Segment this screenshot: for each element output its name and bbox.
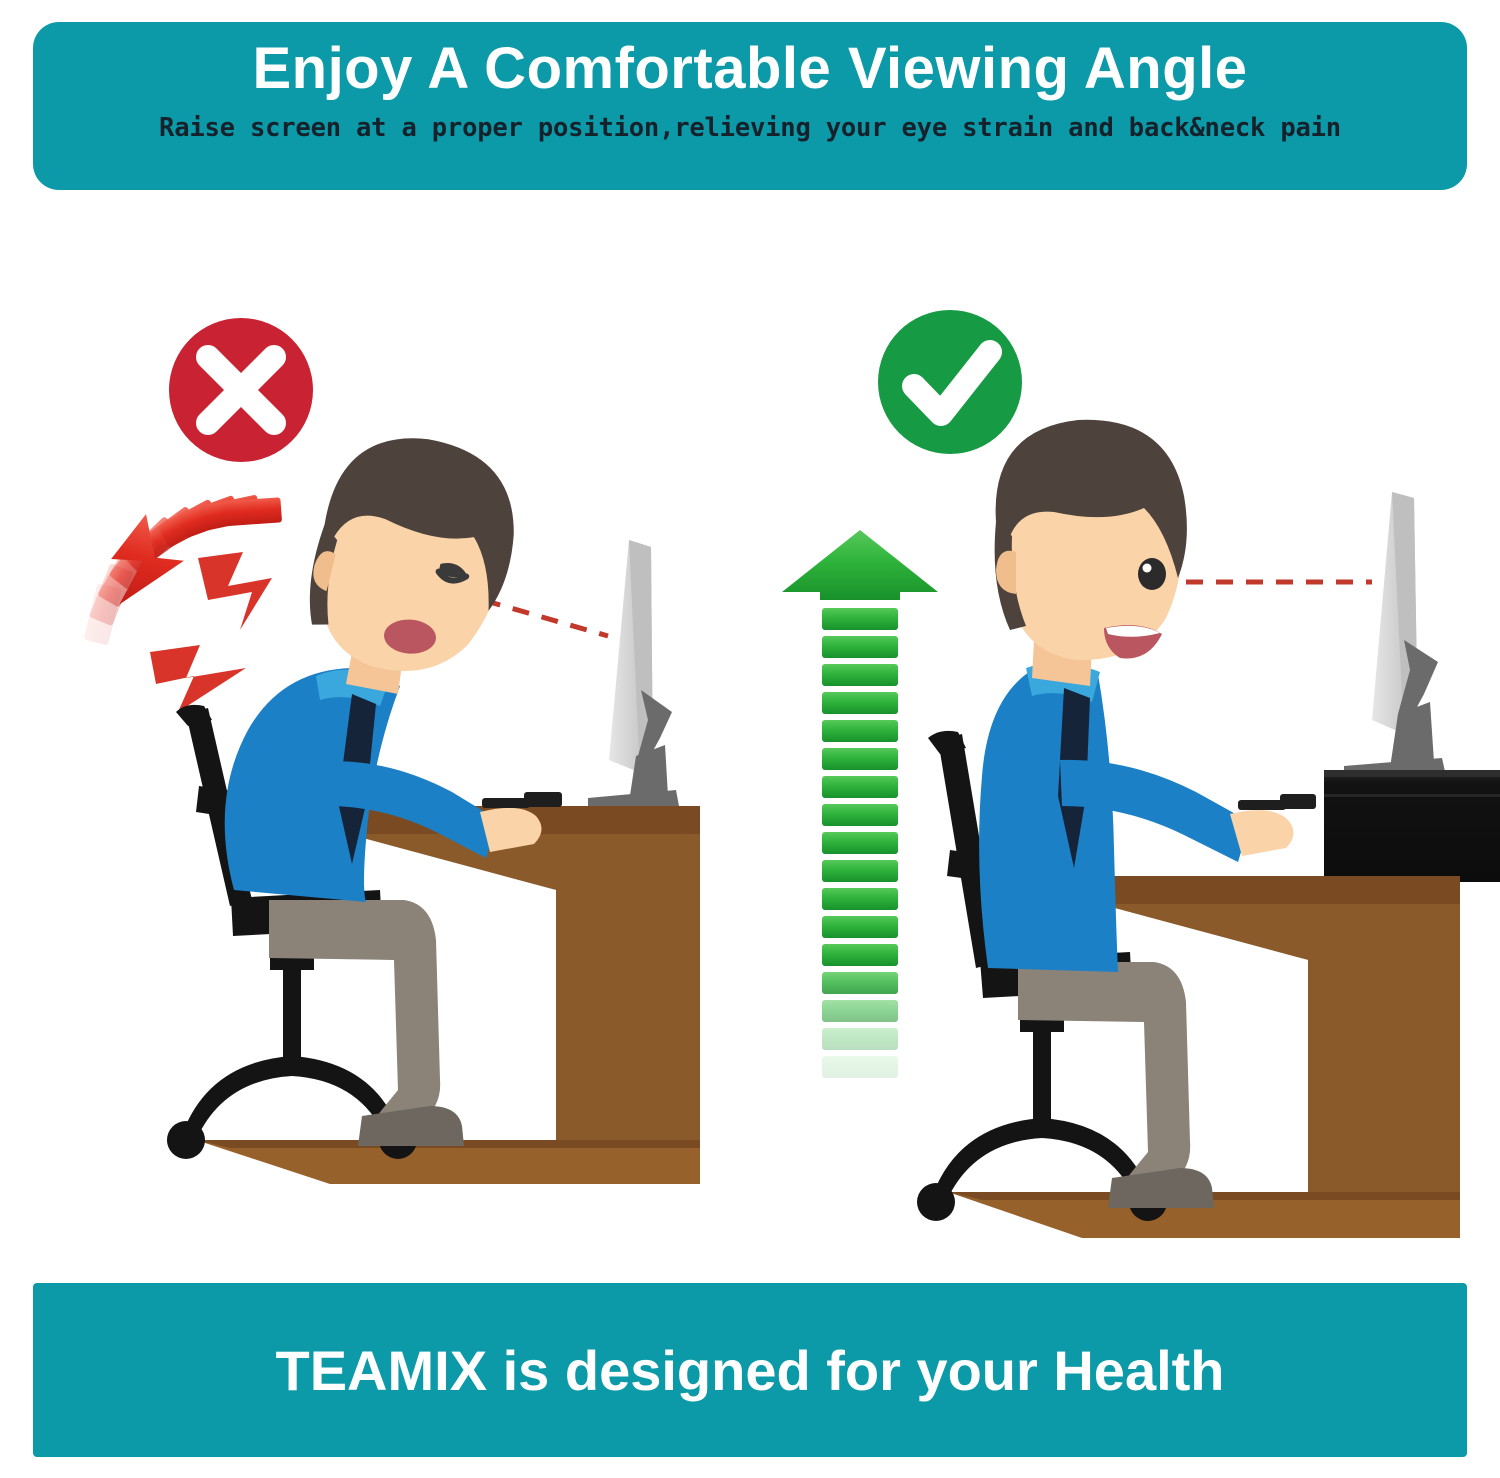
monitor-left — [588, 540, 679, 812]
right-panel-good-posture — [782, 310, 1500, 1238]
pain-bolt-upper-icon — [198, 552, 272, 630]
pain-bolt-lower-icon — [150, 645, 246, 712]
check-badge-icon — [878, 310, 1022, 454]
brand-tagline: TEAMIX is designed for your Health — [275, 1338, 1224, 1403]
infographic-page: Enjoy A Comfortable Viewing Angle Raise … — [0, 0, 1500, 1478]
raise-arrow-icon — [782, 530, 938, 1078]
comparison-illustration — [0, 200, 1500, 1280]
monitor-right — [1344, 492, 1446, 782]
page-title: Enjoy A Comfortable Viewing Angle — [252, 36, 1247, 103]
page-subtitle: Raise screen at a proper position,reliev… — [159, 113, 1341, 143]
pain-arc-icon — [84, 494, 283, 645]
cross-badge-icon — [169, 318, 313, 462]
left-panel-bad-posture — [84, 318, 700, 1184]
header-banner: Enjoy A Comfortable Viewing Angle Raise … — [33, 22, 1467, 190]
keyboard-right — [1238, 794, 1316, 810]
keyboard-left — [482, 792, 562, 808]
footer-banner: TEAMIX is designed for your Health — [33, 1283, 1467, 1457]
monitor-riser — [1324, 770, 1500, 882]
